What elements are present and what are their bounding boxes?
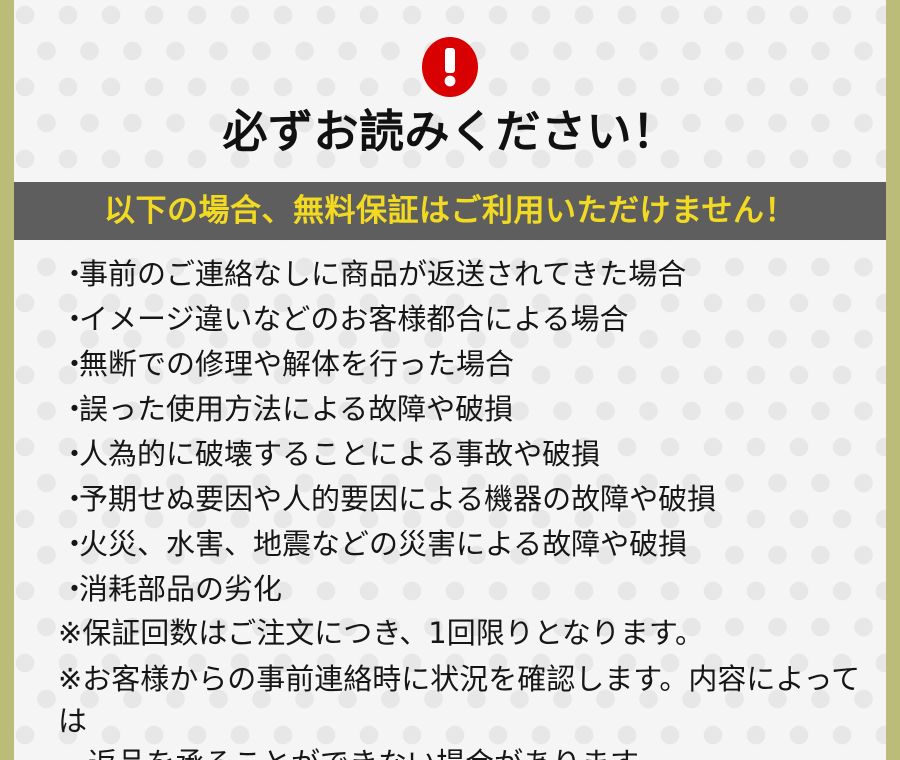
bullet-icon: ・ — [60, 252, 79, 297]
list-item: ・ イメージ違いなどのお客様都合による場合 — [60, 297, 866, 342]
list-item-label: 人為的に破壊することによる事故や破損 — [79, 432, 866, 477]
list-item: ・ 消耗部品の劣化 — [60, 567, 866, 612]
bullet-icon: ・ — [60, 567, 79, 612]
list-item: ・ 事前のご連絡なしに商品が返送されてきた場合 — [60, 252, 866, 297]
left-border-stripe — [0, 0, 14, 760]
list-item-label: 事前のご連絡なしに商品が返送されてきた場合 — [79, 252, 866, 297]
list-item-label: 無断での修理や解体を行った場合 — [79, 342, 866, 387]
bullet-icon: ・ — [60, 477, 79, 522]
notes-section: ※保証回数はご注文につき、1回限りとなります。 ※お客様からの事前連絡時に状況を… — [58, 612, 866, 760]
note-line-continued: 返品を承ることができない場合があります。 — [58, 742, 866, 760]
bullet-icon: ・ — [60, 522, 79, 567]
page-title: 必ずお読みください！ — [14, 104, 886, 160]
list-item: ・ 誤った使用方法による故障や破損 — [60, 387, 866, 432]
exclusion-banner-label: 以下の場合、無料保証はご利用いただけません！ — [104, 192, 796, 230]
bullet-icon: ・ — [60, 297, 79, 342]
notice-page: 必ずお読みください！ 以下の場合、無料保証はご利用いただけません！ ・ 事前のご… — [0, 0, 900, 760]
bullet-icon: ・ — [60, 387, 79, 432]
list-item: ・ 予期せぬ要因や人的要因による機器の故障や破損 — [60, 477, 866, 522]
list-item: ・ 人為的に破壊することによる事故や破損 — [60, 432, 866, 477]
list-item-label: イメージ違いなどのお客様都合による場合 — [79, 297, 866, 342]
right-border-stripe — [886, 0, 900, 760]
exclusion-list: ・ 事前のご連絡なしに商品が返送されてきた場合 ・ イメージ違いなどのお客様都合… — [60, 252, 866, 612]
note-warranty-count: ※保証回数はご注文につき、1回限りとなります。 — [58, 612, 866, 654]
list-item-label: 火災、水害、地震などの災害による故障や破損 — [79, 522, 866, 567]
list-item: ・ 無断での修理や解体を行った場合 — [60, 342, 866, 387]
bullet-icon: ・ — [60, 432, 79, 477]
note-line: ※お客様からの事前連絡時に状況を確認します。内容によっては — [58, 662, 860, 738]
list-item-label: 消耗部品の劣化 — [79, 567, 866, 612]
list-item-label: 予期せぬ要因や人的要因による機器の故障や破損 — [79, 477, 866, 522]
list-item-label: 誤った使用方法による故障や破損 — [79, 387, 866, 432]
exclusion-banner: 以下の場合、無料保証はご利用いただけません！ — [14, 182, 886, 240]
exclamation-circle-icon — [421, 36, 479, 98]
list-item: ・ 火災、水害、地震などの災害による故障や破損 — [60, 522, 866, 567]
bullet-icon: ・ — [60, 342, 79, 387]
note-line: ※保証回数はご注文につき、1回限りとなります。 — [58, 616, 704, 650]
notice-content: 必ずお読みください！ 以下の場合、無料保証はご利用いただけません！ ・ 事前のご… — [14, 0, 886, 760]
note-return-confirmation: ※お客様からの事前連絡時に状況を確認します。内容によっては 返品を承ることができ… — [58, 658, 866, 760]
